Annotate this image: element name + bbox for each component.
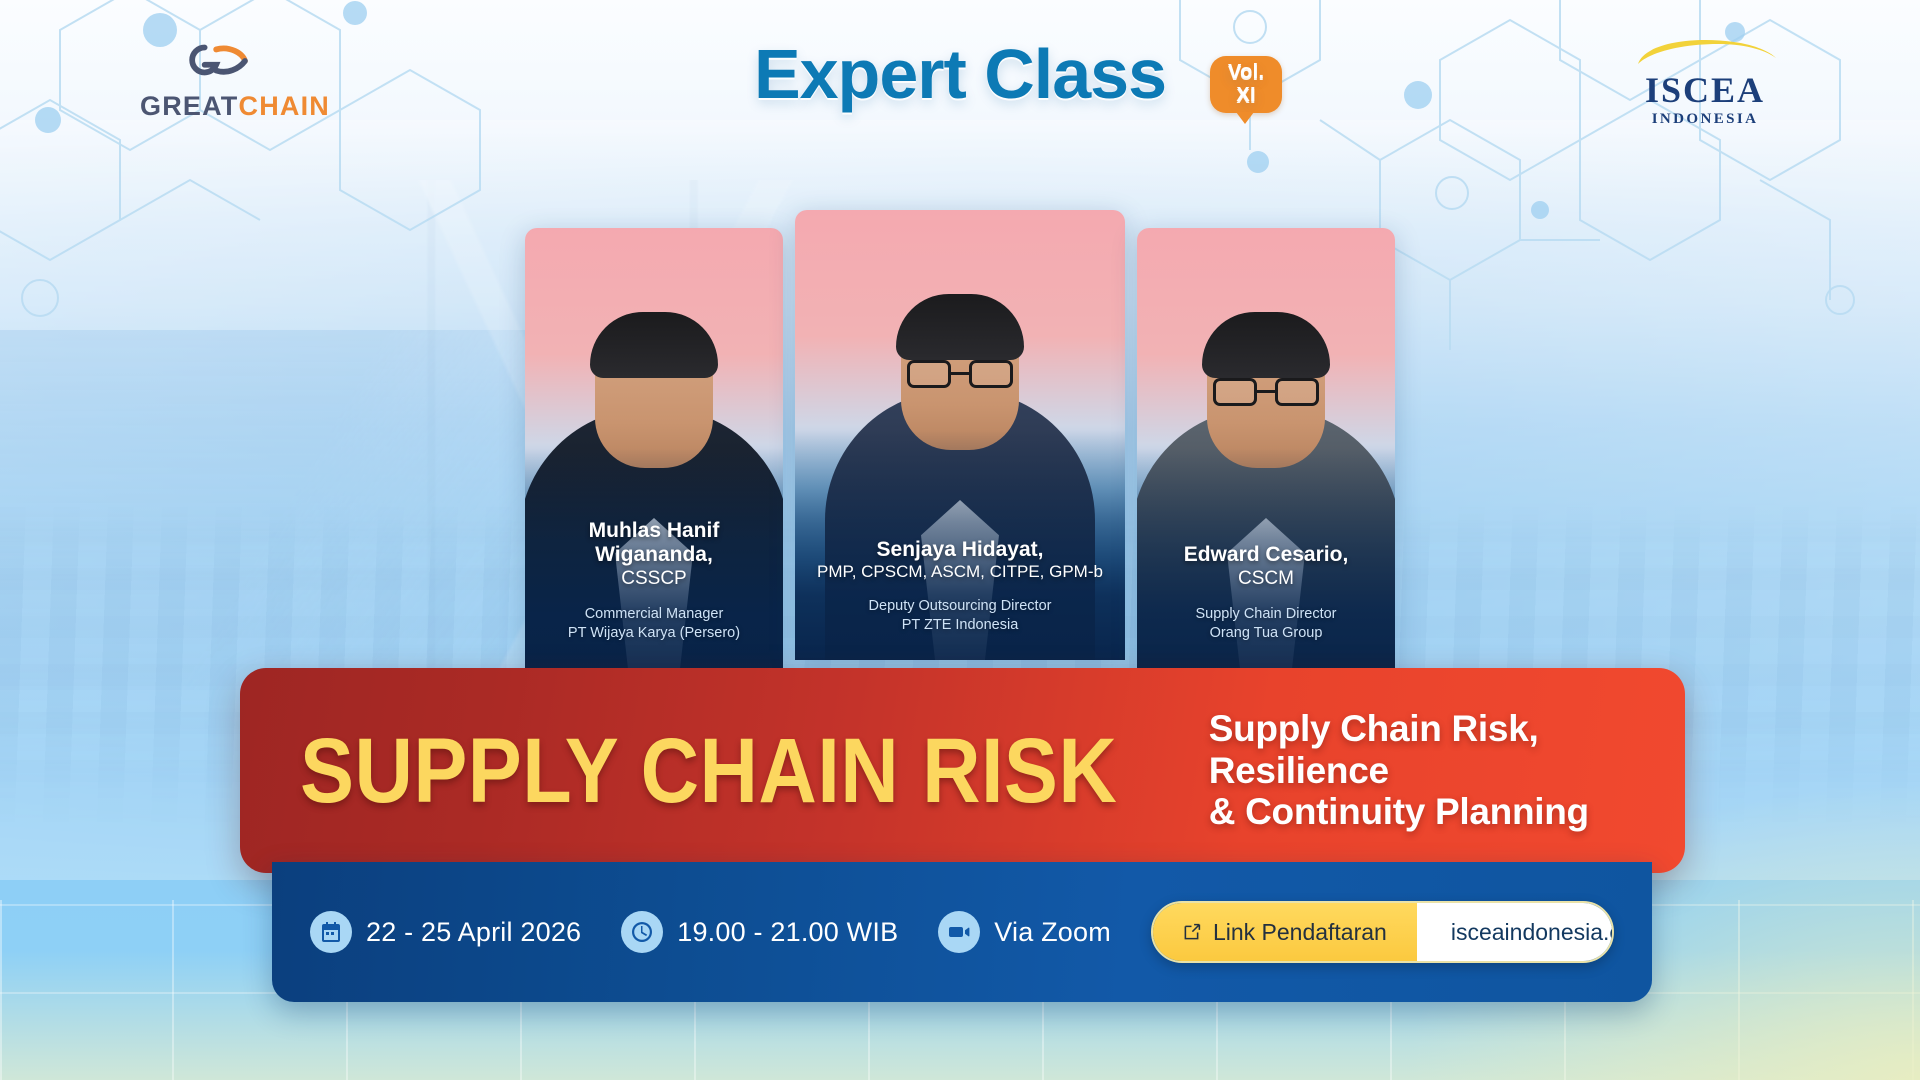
speaker-company: PT Wijaya Karya (Persero)	[535, 624, 773, 644]
speaker-name: Muhlas Hanif Wigananda,	[535, 519, 773, 567]
clock-icon	[621, 911, 663, 953]
page-title: Expert Class Vol. XI	[754, 34, 1166, 114]
hair-shape	[1202, 312, 1330, 378]
registration-link-pill[interactable]: Link Pendaftaran isceaindonesia.com/link…	[1151, 901, 1614, 963]
iscea-country: INDONESIA	[1630, 111, 1780, 128]
speaker-certifications: PMP, CPSCM, ASCM, CITPE, GPM-b	[805, 562, 1115, 582]
video-camera-icon	[938, 911, 980, 953]
topic-subtitle-line-1: Supply Chain Risk, Resilience	[1209, 708, 1639, 791]
speaker-card-1: Muhlas Hanif Wigananda, CSSCP Commercial…	[525, 228, 783, 678]
event-date-text: 22 - 25 April 2026	[366, 917, 581, 948]
topic-subtitle-line-2: & Continuity Planning	[1209, 791, 1639, 832]
event-platform-text: Via Zoom	[994, 917, 1111, 948]
event-platform: Via Zoom	[938, 911, 1111, 953]
speaker-job-title: Supply Chain Director	[1147, 605, 1385, 625]
speaker-job-title: Commercial Manager	[535, 605, 773, 625]
hair-shape	[896, 294, 1024, 360]
event-time: 19.00 - 21.00 WIB	[621, 911, 898, 953]
speaker-certifications: CSCM	[1147, 568, 1385, 591]
page-title-text: Expert Class	[754, 35, 1166, 113]
registration-url[interactable]: isceaindonesia.com/link/	[1417, 903, 1614, 961]
topic-banner: SUPPLY CHAIN RISK Supply Chain Risk, Res…	[240, 668, 1685, 873]
speaker-company: Orang Tua Group	[1147, 624, 1385, 644]
registration-button[interactable]: Link Pendaftaran	[1153, 903, 1417, 961]
calendar-icon	[310, 911, 352, 953]
registration-button-label: Link Pendaftaran	[1213, 919, 1387, 946]
glasses-icon	[907, 360, 1013, 388]
speaker-certifications: CSSCP	[535, 568, 773, 591]
speaker-card-2: Senjaya Hidayat, PMP, CPSCM, ASCM, CITPE…	[795, 210, 1125, 660]
poster-canvas: GREATCHAIN Expert Class Vol. XI ISCEA IN…	[0, 0, 1920, 1080]
event-date: 22 - 25 April 2026	[310, 911, 581, 953]
iscea-logo: ISCEA INDONESIA	[1630, 38, 1780, 128]
speaker-role: Commercial Manager PT Wijaya Karya (Pers…	[535, 605, 773, 644]
speaker-name: Senjaya Hidayat,	[805, 538, 1115, 562]
event-time-text: 19.00 - 21.00 WIB	[677, 917, 898, 948]
speakers-row: Muhlas Hanif Wigananda, CSSCP Commercial…	[0, 228, 1920, 678]
speaker-company: PT ZTE Indonesia	[805, 616, 1115, 636]
speaker-job-title: Deputy Outsourcing Director	[805, 597, 1115, 617]
topic-headline: SUPPLY CHAIN RISK	[300, 725, 1117, 817]
speaker-details-2: Senjaya Hidayat, PMP, CPSCM, ASCM, CITPE…	[795, 538, 1125, 636]
speaker-name: Edward Cesario,	[1147, 543, 1385, 567]
glasses-icon	[1213, 378, 1319, 406]
topic-subtitle: Supply Chain Risk, Resilience & Continui…	[1209, 708, 1639, 832]
poster-header: GREATCHAIN Expert Class Vol. XI ISCEA IN…	[0, 0, 1920, 150]
external-link-icon	[1181, 922, 1202, 943]
speaker-details-1: Muhlas Hanif Wigananda, CSSCP Commercial…	[525, 519, 783, 644]
hair-shape	[590, 312, 718, 378]
speaker-card-3: Edward Cesario, CSCM Supply Chain Direct…	[1137, 228, 1395, 678]
event-info-bar: 22 - 25 April 2026 19.00 - 21.00 WIB Via…	[272, 862, 1652, 1002]
speaker-role: Deputy Outsourcing Director PT ZTE Indon…	[805, 597, 1115, 636]
iscea-swoosh-icon	[1630, 38, 1780, 72]
volume-badge: Vol. XI	[1210, 56, 1282, 113]
speaker-role: Supply Chain Director Orang Tua Group	[1147, 605, 1385, 644]
iscea-wordmark: ISCEA	[1630, 72, 1780, 108]
speaker-details-3: Edward Cesario, CSCM Supply Chain Direct…	[1137, 543, 1395, 644]
